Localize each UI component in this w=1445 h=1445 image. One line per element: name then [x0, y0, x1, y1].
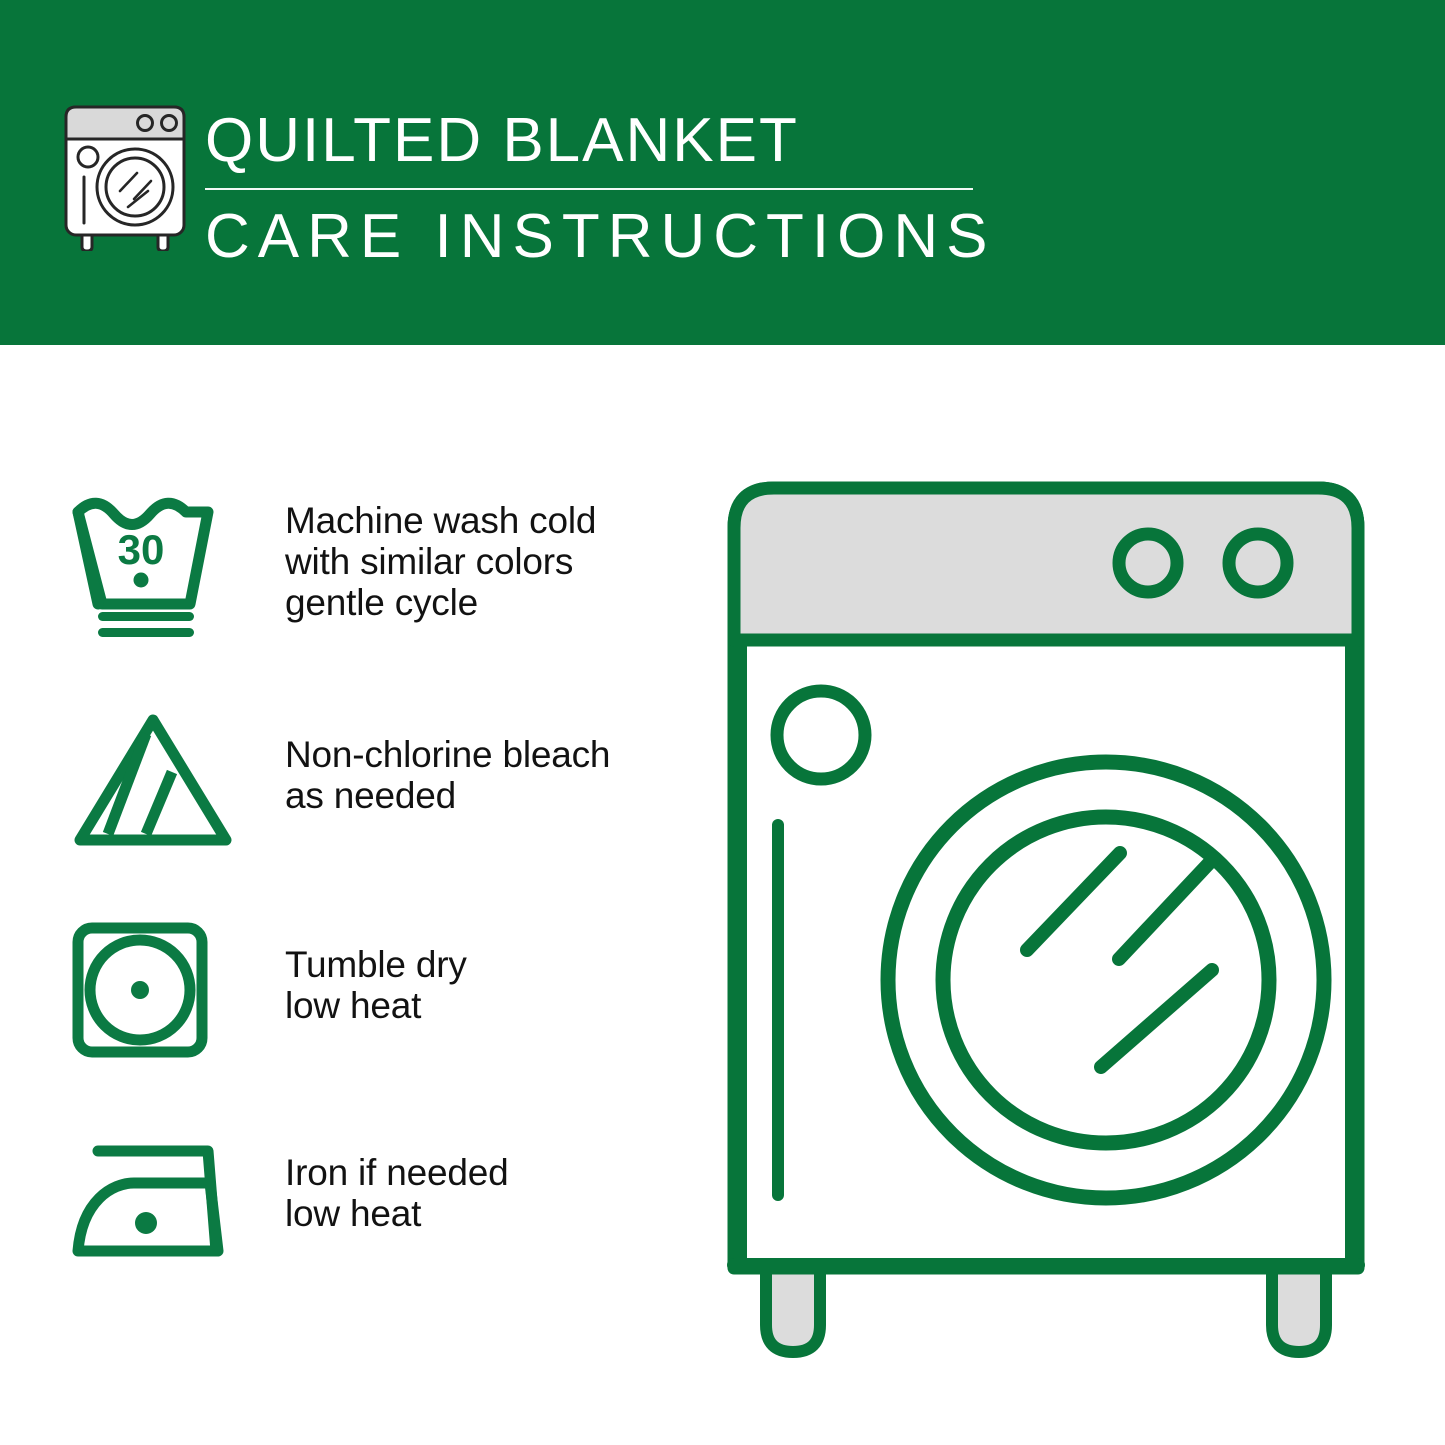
care-line: with similar colors — [285, 541, 700, 582]
page-title: QUILTED BLANKET — [205, 104, 995, 178]
care-row-tumble-dry: Tumble dry low heat — [60, 900, 700, 1110]
care-row-machine-wash: 30 Machine wash cold with similar colors… — [60, 480, 700, 690]
care-text-machine-wash: Machine wash cold with similar colors ge… — [285, 480, 700, 623]
care-instruction-list: 30 Machine wash cold with similar colors… — [60, 480, 700, 1320]
care-line: as needed — [285, 775, 700, 816]
detergent-dispenser — [777, 691, 865, 779]
care-row-bleach: Non-chlorine bleach as needed — [60, 690, 700, 900]
care-line: Iron if needed — [285, 1152, 700, 1193]
bleach-triangle-non-chlorine-icon — [60, 690, 285, 865]
care-line: Machine wash cold — [285, 500, 700, 541]
wash-tub-30-gentle-icon: 30 — [60, 480, 285, 655]
knob-left — [1119, 534, 1177, 592]
page-subtitle: CARE INSTRUCTIONS — [205, 202, 995, 272]
leg-left — [766, 1265, 820, 1352]
care-row-iron: Iron if needed low heat — [60, 1110, 700, 1320]
care-line: Tumble dry — [285, 944, 700, 985]
care-line: Non-chlorine bleach — [285, 734, 700, 775]
care-instructions-page: QUILTED BLANKET CARE INSTRUCTIONS 30 — [0, 0, 1445, 1445]
care-line: low heat — [285, 1193, 700, 1234]
leg-right — [1272, 1265, 1326, 1352]
header-band: QUILTED BLANKET CARE INSTRUCTIONS — [0, 0, 1445, 345]
care-text-iron: Iron if needed low heat — [285, 1110, 700, 1234]
front-load-washing-machine-illustration — [716, 470, 1406, 1370]
washing-machine-icon — [62, 103, 190, 251]
iron-low-heat-icon — [60, 1110, 285, 1285]
header-divider — [205, 188, 973, 190]
care-text-tumble-dry: Tumble dry low heat — [285, 900, 700, 1026]
tumble-dry-low-heat-icon — [60, 900, 285, 1075]
knob-right — [1229, 534, 1287, 592]
wash-temperature-label: 30 — [118, 526, 165, 573]
care-line: gentle cycle — [285, 582, 700, 623]
care-text-bleach: Non-chlorine bleach as needed — [285, 690, 700, 816]
header-text-block: QUILTED BLANKET CARE INSTRUCTIONS — [205, 104, 995, 272]
care-line: low heat — [285, 985, 700, 1026]
